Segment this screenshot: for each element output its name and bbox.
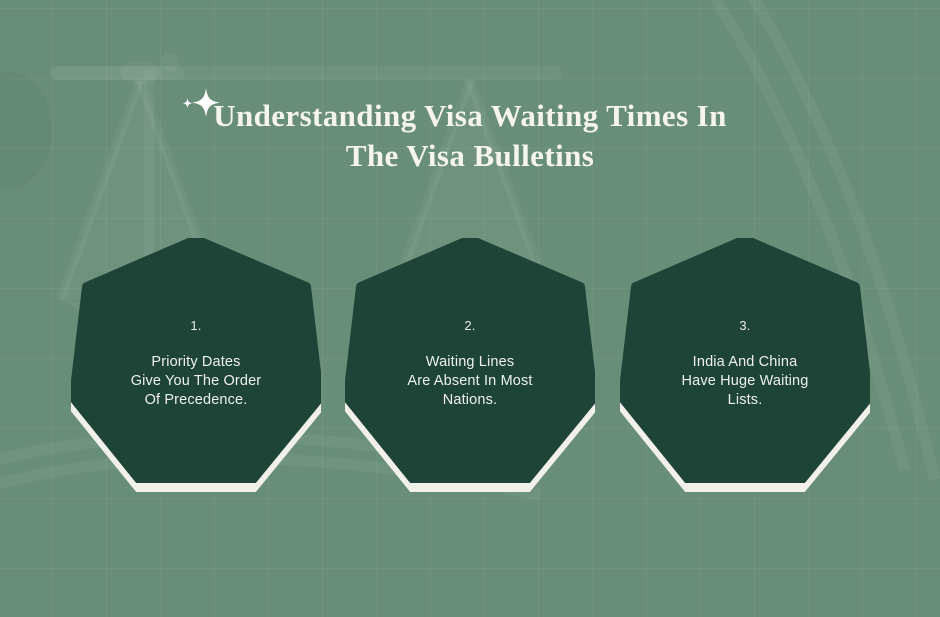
card-2-text: 2. Waiting Lines Are Absent In Most Nati… <box>345 238 595 483</box>
card-1-line-3: Of Precedence. <box>131 391 262 410</box>
card-3-line-3: Lists. <box>682 391 809 410</box>
card-1-text: 1. Priority Dates Give You The Order Of … <box>71 238 321 483</box>
card-2-description: Waiting Lines Are Absent In Most Nations… <box>407 353 532 410</box>
card-1[interactable]: 1. Priority Dates Give You The Order Of … <box>71 238 321 486</box>
card-1-line-2: Give You The Order <box>131 372 262 391</box>
card-2-number: 2. <box>464 318 475 334</box>
card-1-description: Priority Dates Give You The Order Of Pre… <box>131 353 262 410</box>
card-1-line-1: Priority Dates <box>131 353 262 372</box>
card-2[interactable]: 2. Waiting Lines Are Absent In Most Nati… <box>345 238 595 486</box>
card-2-line-2: Are Absent In Most <box>407 372 532 391</box>
card-1-number: 1. <box>190 318 201 334</box>
cards-row: 1. Priority Dates Give You The Order Of … <box>0 238 940 498</box>
page-title: Understanding Visa Waiting Times In The … <box>0 96 940 176</box>
card-3[interactable]: 3. India And China Have Huge Waiting Lis… <box>620 238 870 486</box>
card-3-text: 3. India And China Have Huge Waiting Lis… <box>620 238 870 483</box>
infographic-poster: Understanding Visa Waiting Times In The … <box>0 0 940 617</box>
card-3-line-2: Have Huge Waiting <box>682 372 809 391</box>
card-2-line-1: Waiting Lines <box>407 353 532 372</box>
title-line-2: The Visa Bulletins <box>0 136 940 176</box>
card-3-number: 3. <box>739 318 750 334</box>
card-3-description: India And China Have Huge Waiting Lists. <box>682 353 809 410</box>
title-line-1: Understanding Visa Waiting Times In <box>0 96 940 136</box>
card-2-line-3: Nations. <box>407 391 532 410</box>
card-3-line-1: India And China <box>682 353 809 372</box>
